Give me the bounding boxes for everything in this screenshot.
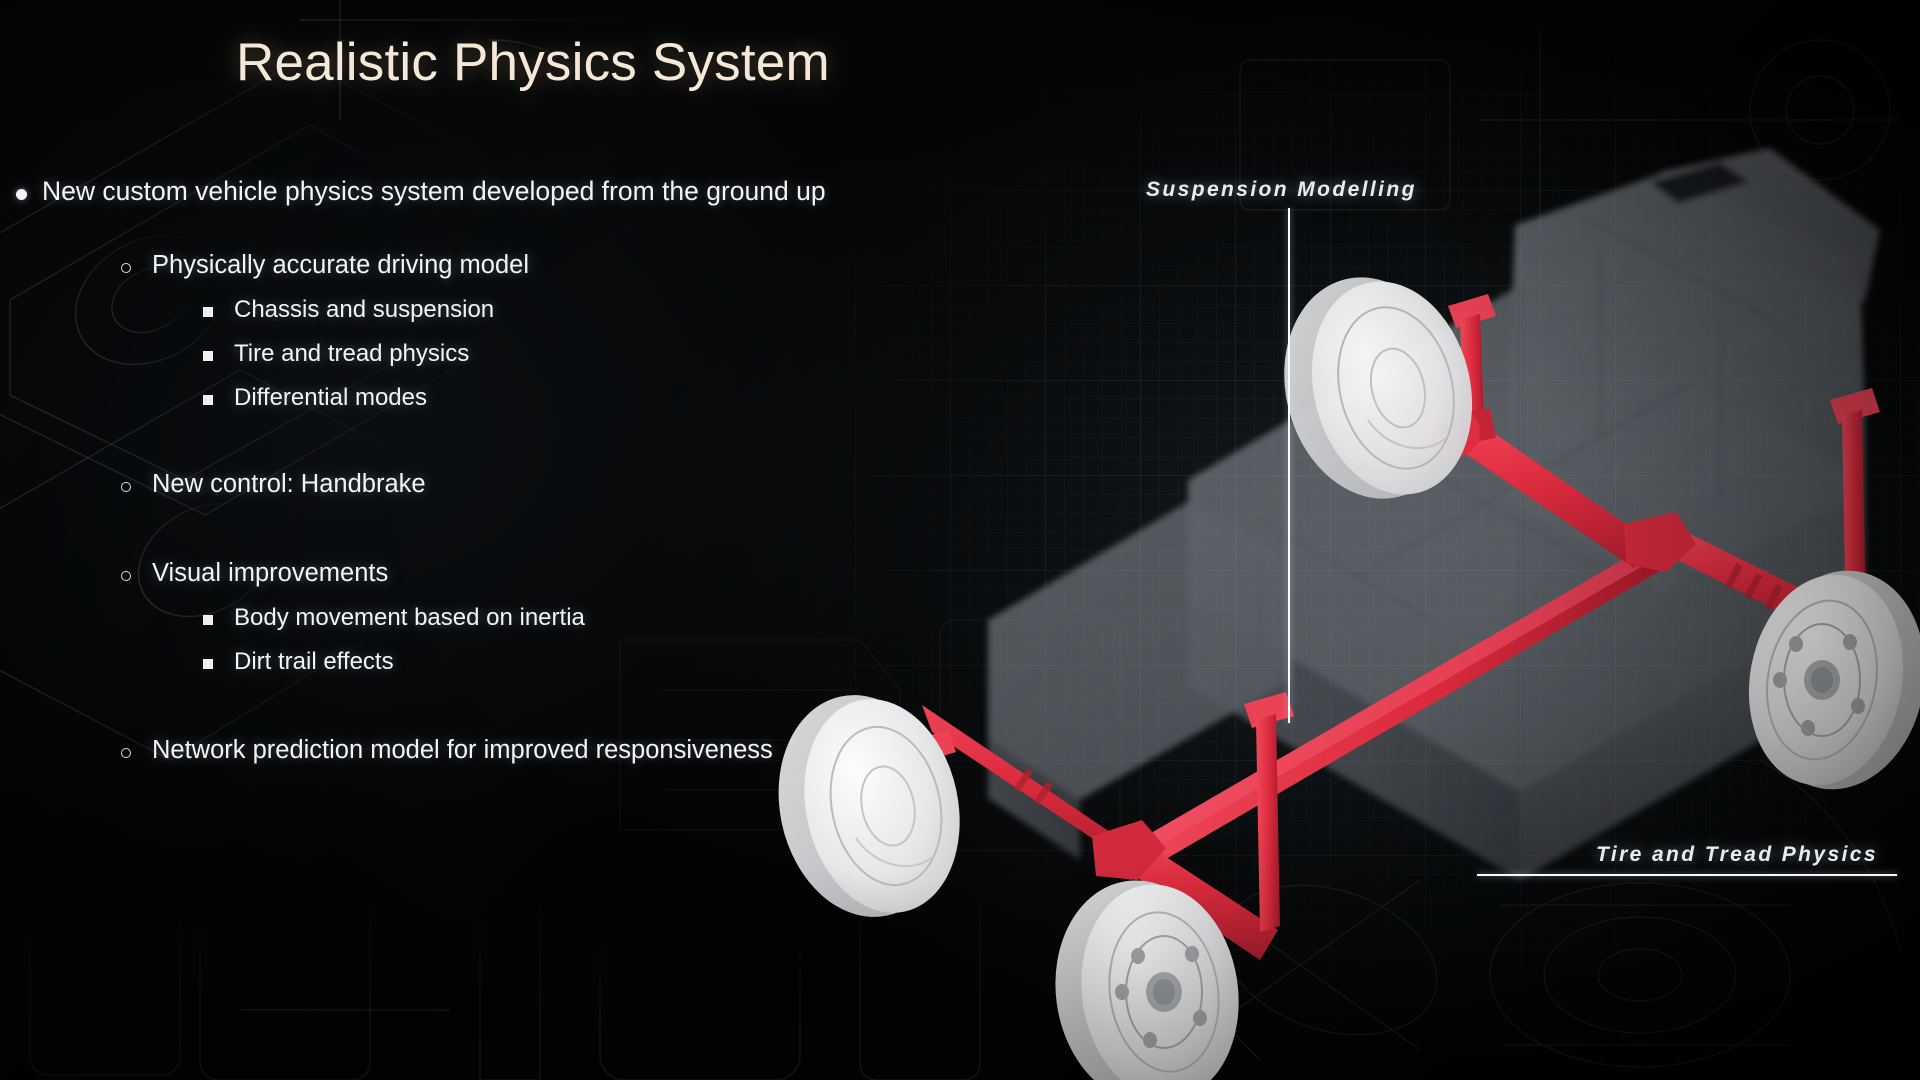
bullet-list: New custom vehicle physics system develo… [0, 176, 1000, 765]
filled-square-icon [182, 351, 234, 361]
bullet-item: Visual improvements [0, 559, 1000, 588]
bullet-text: Tire and tread physics [234, 340, 469, 368]
bullet-text: Dirt trail effects [234, 648, 394, 676]
annotation-tire-and-tread-physics: Tire and Tread Physics [1596, 843, 1878, 867]
vehicle-body-ghost [988, 148, 1880, 880]
hollow-circle-icon [100, 571, 152, 581]
hollow-circle-icon [100, 482, 152, 492]
filled-square-icon [182, 395, 234, 405]
bullet-text: New custom vehicle physics system develo… [42, 176, 826, 207]
bullet-item: Dirt trail effects [0, 648, 1000, 676]
bullet-text: Differential modes [234, 384, 427, 412]
bullet-text: Body movement based on inertia [234, 604, 585, 632]
filled-square-icon [182, 659, 234, 669]
bullet-text: Physically accurate driving model [152, 251, 529, 280]
bullet-item: Tire and tread physics [0, 340, 1000, 368]
bullet-item: Chassis and suspension [0, 296, 1000, 324]
tire-leader-line [1477, 874, 1897, 876]
filled-square-icon [182, 307, 234, 317]
bullet-item: Differential modes [0, 384, 1000, 412]
bullet-text: Network prediction model for improved re… [152, 736, 773, 765]
page-title: Realistic Physics System [236, 32, 830, 93]
bullet-item: New custom vehicle physics system develo… [0, 176, 1000, 207]
bullet-item: New control: Handbrake [0, 470, 1000, 499]
annotation-suspension-modelling: Suspension Modelling [1146, 178, 1417, 202]
bullet-item: Body movement based on inertia [0, 604, 1000, 632]
bullet-text: Chassis and suspension [234, 296, 494, 324]
bullet-text: New control: Handbrake [152, 470, 426, 499]
slide-canvas: Realistic Physics System New custom vehi… [0, 0, 1920, 1080]
bullet-text: Visual improvements [152, 559, 388, 588]
bullet-item: Physically accurate driving model [0, 251, 1000, 280]
filled-disc-icon [0, 189, 42, 200]
filled-square-icon [182, 615, 234, 625]
bullet-item: Network prediction model for improved re… [0, 736, 1000, 765]
suspension-leader-line [1288, 208, 1290, 723]
hollow-circle-icon [100, 263, 152, 273]
hollow-circle-icon [100, 748, 152, 758]
